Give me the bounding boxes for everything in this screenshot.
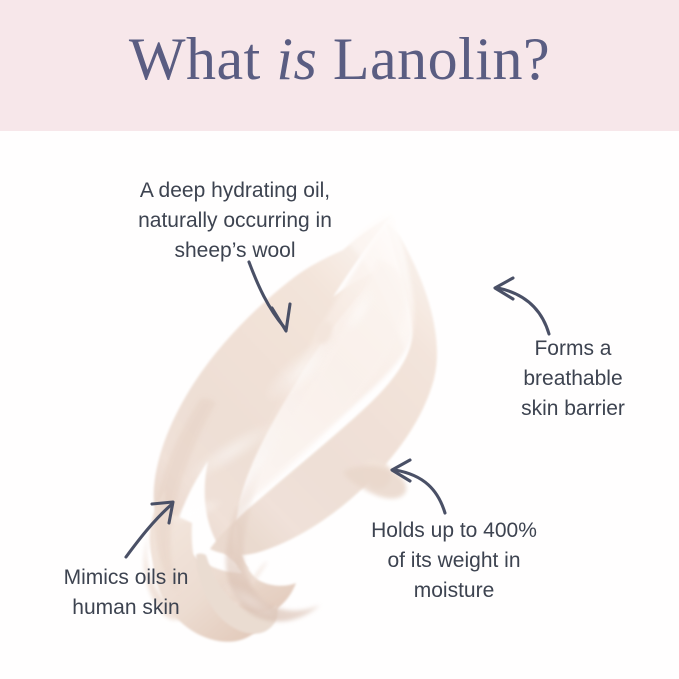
curved-arrow-up-right-icon	[126, 502, 173, 557]
annotation-mimics-oils: Mimics oils in human skin	[26, 563, 226, 623]
annotation-holds-moisture: Holds up to 400% of its weight in moistu…	[330, 516, 578, 606]
annotation-hydrating-oil: A deep hydrating oil, naturally occurrin…	[100, 176, 370, 266]
curved-arrow-up-left-icon-right	[495, 278, 549, 334]
curved-arrow-down-right-icon	[249, 262, 290, 331]
annotation-skin-barrier: Forms a breathable skin barrier	[478, 334, 668, 424]
curved-arrow-up-left-icon-bottom	[392, 460, 445, 513]
infographic-canvas: What is Lanolin?	[0, 0, 679, 679]
